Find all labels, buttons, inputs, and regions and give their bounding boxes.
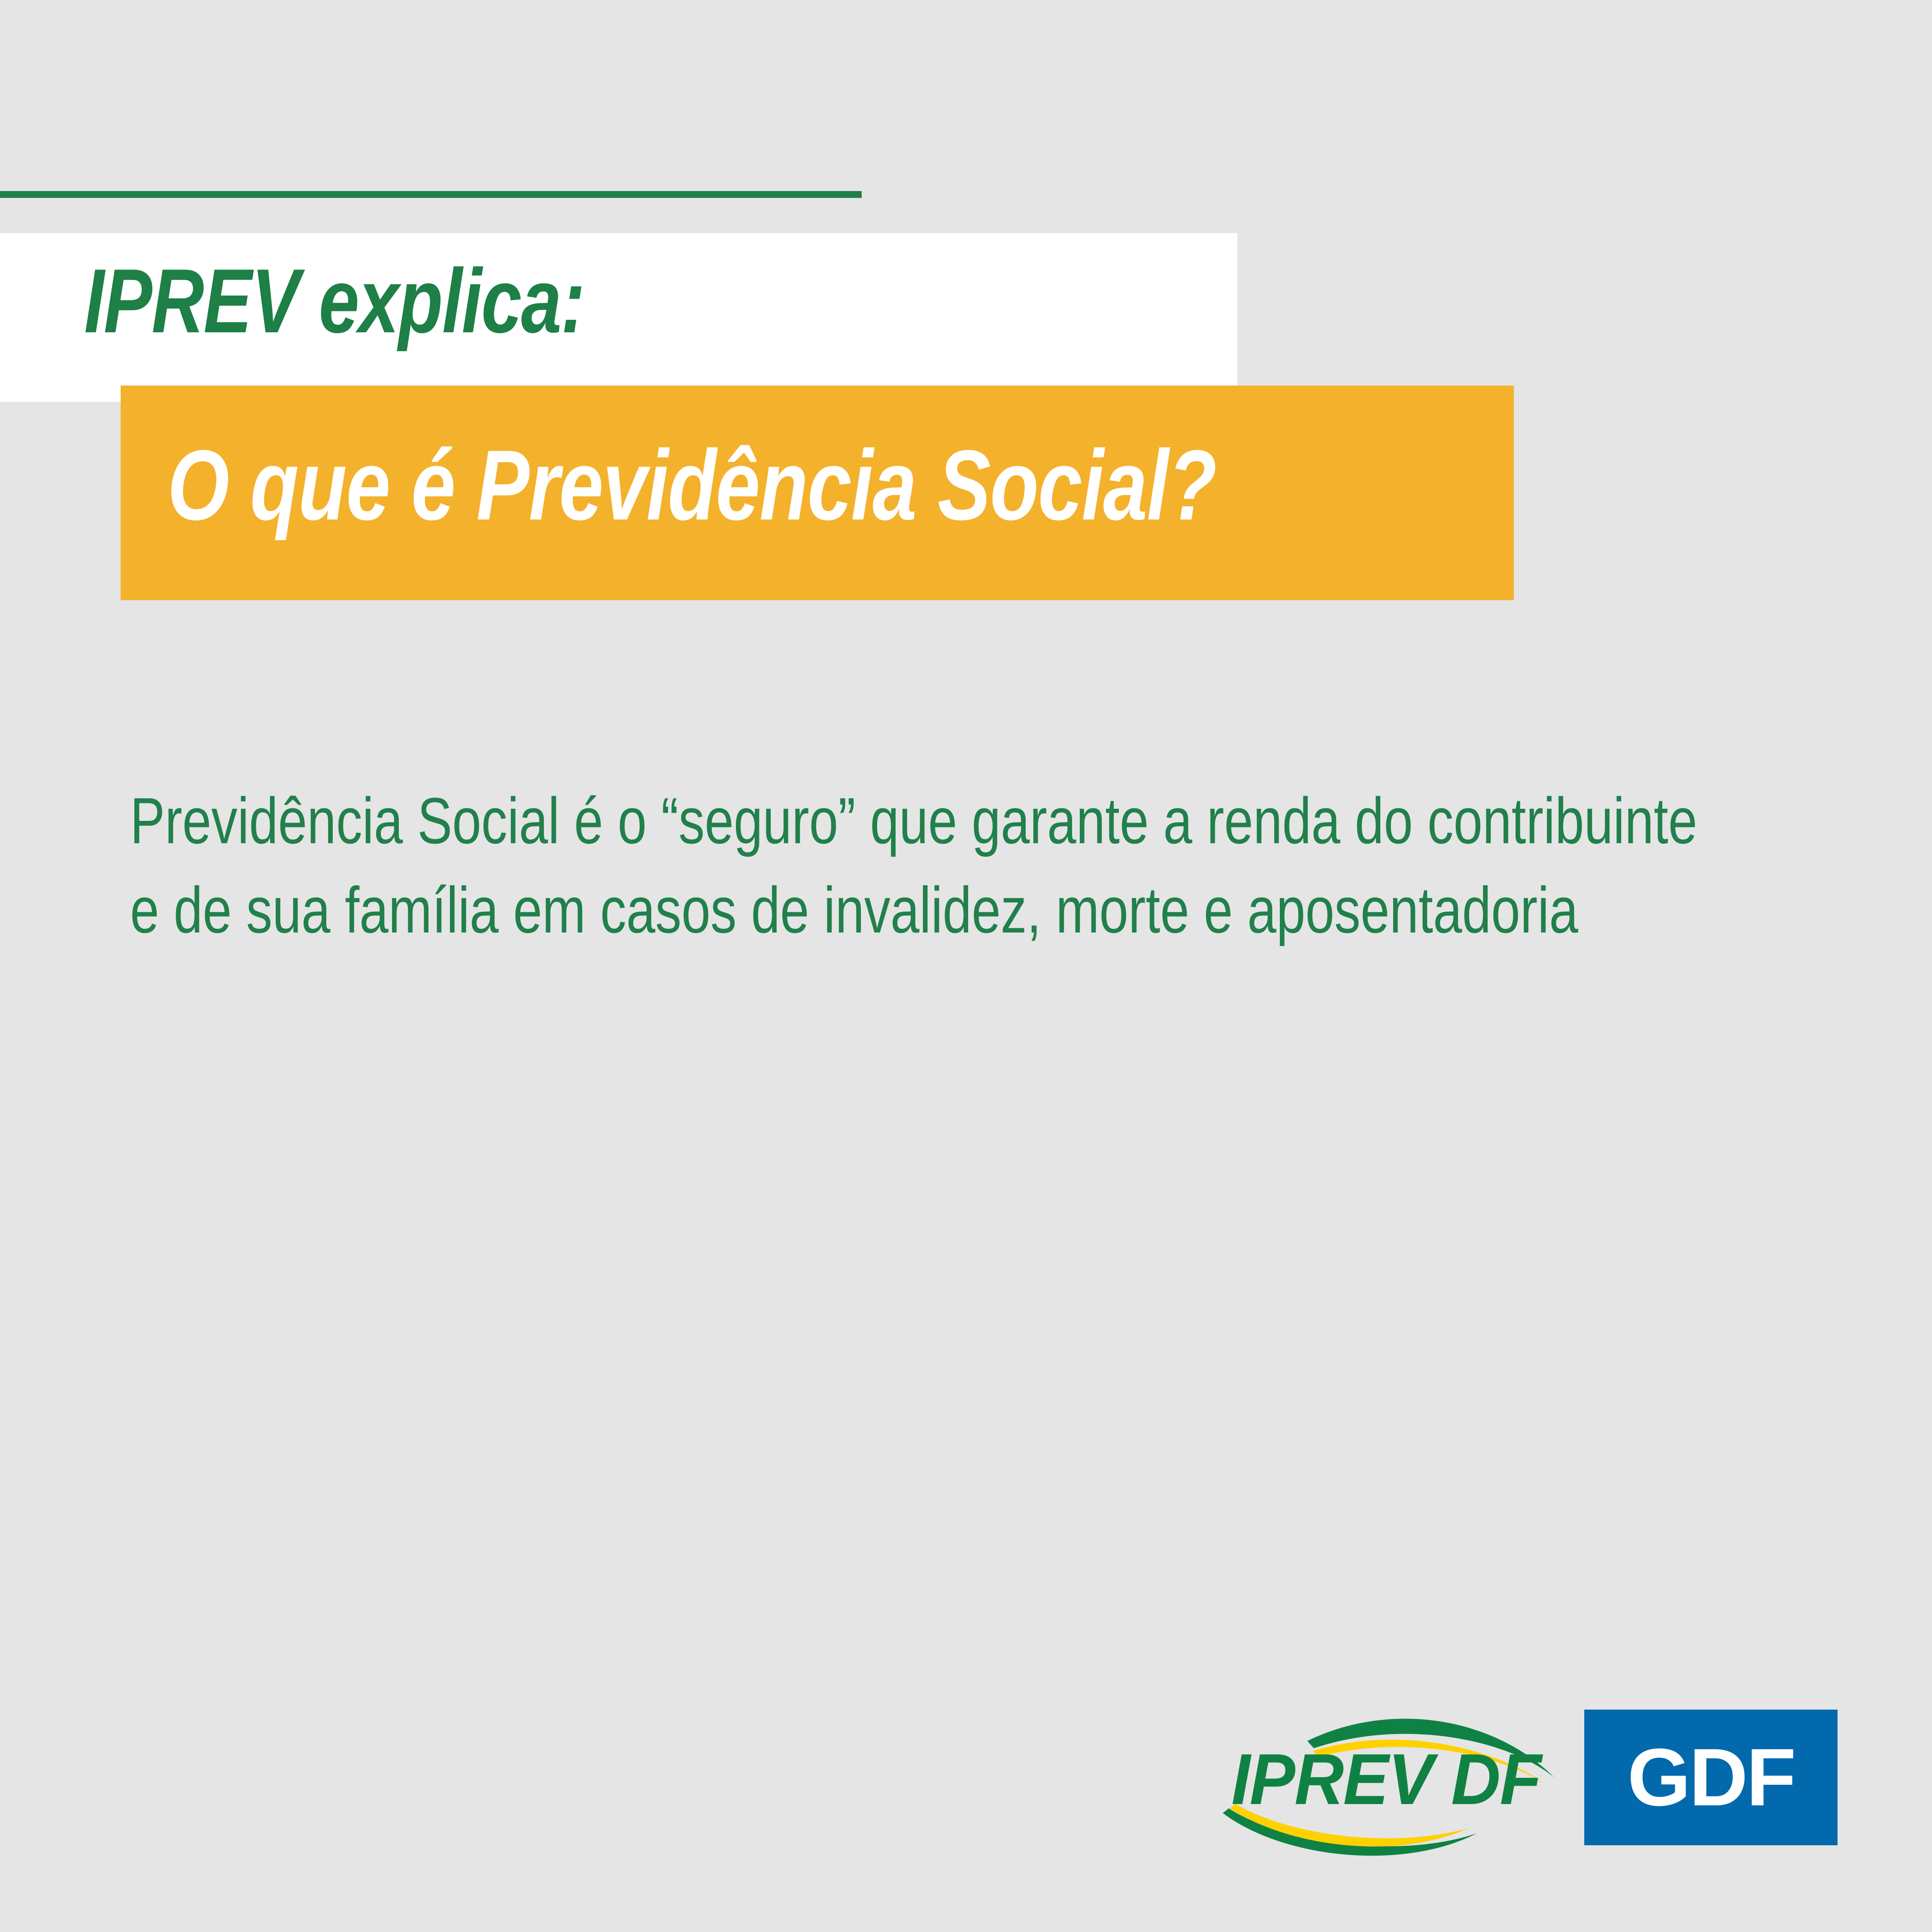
body-line-1: Previdência Social é o “seguro” que gara… bbox=[130, 784, 1697, 857]
gdf-wordmark: GDF bbox=[1584, 1710, 1838, 1845]
logo-lockup: IPREV DF GDF bbox=[1211, 1692, 1855, 1872]
body-line-2: e de sua família em casos de invalidez, … bbox=[130, 874, 1578, 947]
iprev-df-wordmark: IPREV DF bbox=[1231, 1743, 1541, 1815]
gdf-logo-block: GDF bbox=[1584, 1710, 1838, 1845]
page-title: O que é Previdência Social? bbox=[167, 436, 1335, 577]
poster-card: IPREV explica: O que é Previdência Socia… bbox=[0, 0, 1932, 1932]
body-paragraph: Previdência Social é o “seguro” que gara… bbox=[130, 776, 1847, 955]
iprev-df-logo: IPREV DF bbox=[1211, 1692, 1563, 1872]
top-green-rule bbox=[0, 191, 862, 198]
eyebrow-title: IPREV explica: bbox=[84, 255, 840, 384]
